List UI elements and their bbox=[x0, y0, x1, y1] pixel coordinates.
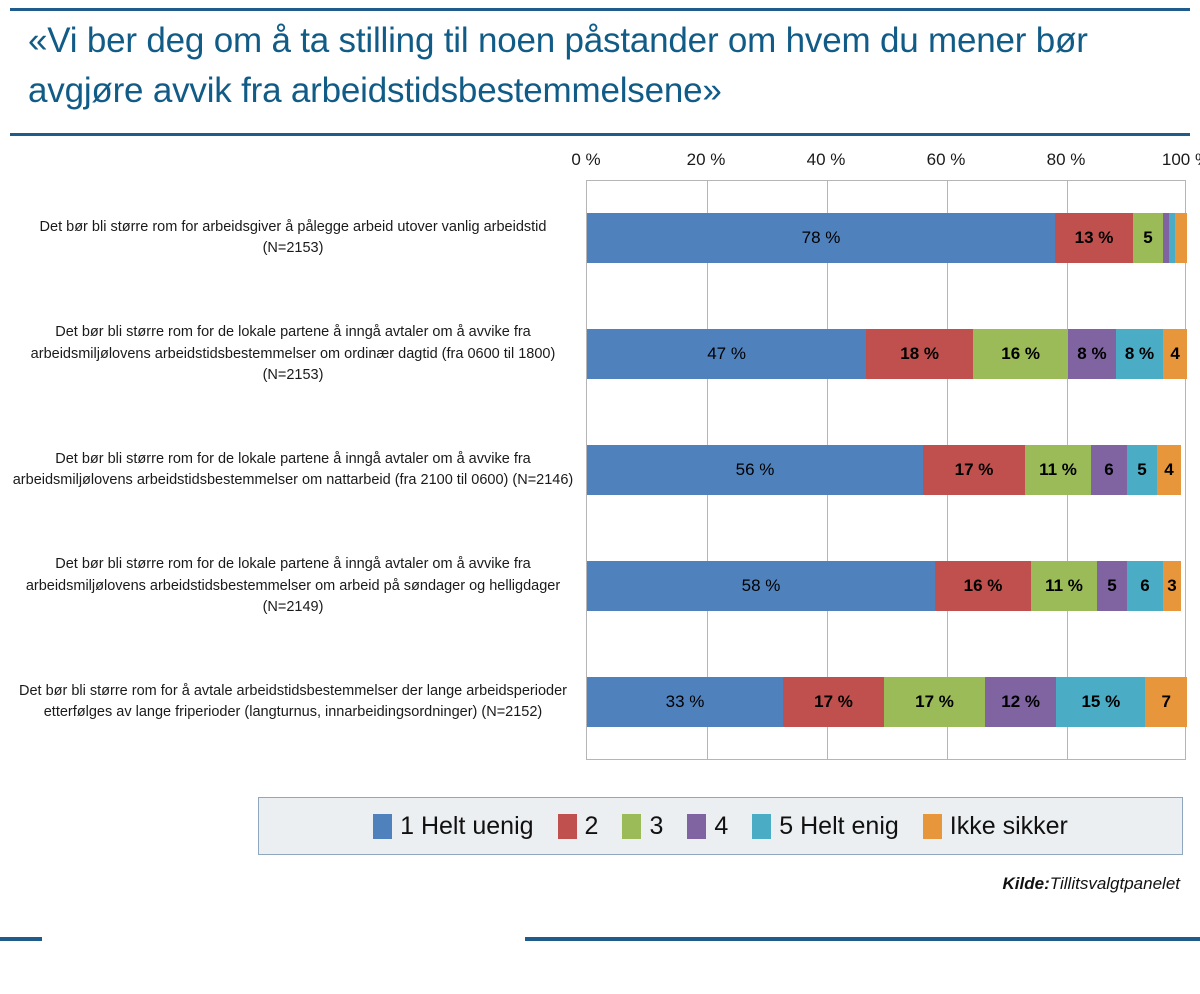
bar-segment: 56 % bbox=[587, 445, 923, 495]
bar-row: 33 %17 %17 %12 %15 %7 bbox=[587, 677, 1187, 727]
legend-label: 3 bbox=[649, 812, 663, 841]
x-tick-label: 60 % bbox=[927, 150, 966, 170]
title-bottom-rule bbox=[10, 133, 1190, 136]
legend-label: 5 Helt enig bbox=[779, 812, 899, 841]
source-note: Kilde:Tillitsvalgtpanelet bbox=[1003, 874, 1180, 894]
category-label: Det bør bli større rom for de lokale par… bbox=[8, 439, 578, 501]
legend-item[interactable]: 2 bbox=[558, 812, 599, 841]
bar-segment: 6 bbox=[1091, 445, 1127, 495]
bar-row: 78 %13 %5 bbox=[587, 213, 1187, 263]
source-label: Kilde: bbox=[1003, 874, 1050, 893]
legend-swatch-icon bbox=[923, 814, 942, 839]
legend-swatch-icon bbox=[373, 814, 392, 839]
bar-segment: 18 % bbox=[866, 329, 973, 379]
x-tick-label: 0 % bbox=[571, 150, 600, 170]
legend-label: 4 bbox=[714, 812, 728, 841]
bar-segment: 8 % bbox=[1068, 329, 1116, 379]
bar-segment: 4 bbox=[1157, 445, 1181, 495]
page-title: «Vi ber deg om å ta stilling til noen på… bbox=[28, 16, 1188, 115]
x-tick-label: 20 % bbox=[687, 150, 726, 170]
bar-segment: 17 % bbox=[783, 677, 884, 727]
bar-segment: 16 % bbox=[973, 329, 1068, 379]
bar-segment: 7 bbox=[1145, 677, 1187, 727]
stacked-bar-chart: 0 %20 %40 %60 %80 %100 % 78 %13 %547 %18… bbox=[0, 140, 1200, 785]
bar-segment: 47 % bbox=[587, 329, 866, 379]
bar-segment: 13 % bbox=[1055, 213, 1133, 263]
bar-segment: 4 bbox=[1163, 329, 1187, 379]
bar-segment: 17 % bbox=[923, 445, 1025, 495]
title-top-rule bbox=[10, 8, 1190, 11]
bar-segment: 12 % bbox=[985, 677, 1056, 727]
slide-root: «Vi ber deg om å ta stilling til noen på… bbox=[0, 0, 1200, 994]
legend-item[interactable]: 5 Helt enig bbox=[752, 812, 899, 841]
legend-item[interactable]: 1 Helt uenig bbox=[373, 812, 533, 841]
bar-segment: 11 % bbox=[1025, 445, 1091, 495]
bar-segment: 11 % bbox=[1031, 561, 1097, 611]
category-label: Det bør bli større rom for de lokale par… bbox=[8, 555, 578, 617]
bar-segment: 3 bbox=[1163, 561, 1181, 611]
bar-row: 47 %18 %16 %8 %8 %4 bbox=[587, 329, 1187, 379]
x-axis-tick-labels: 0 %20 %40 %60 %80 %100 % bbox=[0, 150, 1200, 174]
bar-segment: 58 % bbox=[587, 561, 935, 611]
footer-rule-right bbox=[525, 937, 1200, 941]
source-value: Tillitsvalgtpanelet bbox=[1050, 874, 1180, 893]
bar-segment: 5 bbox=[1127, 445, 1157, 495]
legend-label: 1 Helt uenig bbox=[400, 812, 533, 841]
bar-segment: 33 % bbox=[587, 677, 783, 727]
legend-label: 2 bbox=[585, 812, 599, 841]
bar-segment: 16 % bbox=[935, 561, 1031, 611]
bar-segment: 5 bbox=[1097, 561, 1127, 611]
category-label: Det bør bli større rom for de lokale par… bbox=[8, 323, 578, 385]
bar-segment bbox=[1175, 213, 1187, 263]
plot-area: 78 %13 %547 %18 %16 %8 %8 %456 %17 %11 %… bbox=[586, 180, 1186, 760]
x-tick-label: 100 % bbox=[1162, 150, 1200, 170]
bar-segment: 5 bbox=[1133, 213, 1163, 263]
footer: arbeidslivet.no bbox=[0, 905, 1200, 994]
legend-swatch-icon bbox=[558, 814, 577, 839]
bar-row: 58 %16 %11 %563 bbox=[587, 561, 1187, 611]
category-label: Det bør bli større rom for å avtale arbe… bbox=[8, 671, 578, 733]
legend-label: Ikke sikker bbox=[950, 812, 1068, 841]
bar-segment: 78 % bbox=[587, 213, 1055, 263]
legend-swatch-icon bbox=[752, 814, 771, 839]
plot-bottom-edge bbox=[587, 759, 1185, 760]
legend-swatch-icon bbox=[622, 814, 641, 839]
bar-segment: 17 % bbox=[884, 677, 985, 727]
bar-segment: 15 % bbox=[1056, 677, 1145, 727]
x-tick-label: 80 % bbox=[1047, 150, 1086, 170]
bar-row: 56 %17 %11 %654 bbox=[587, 445, 1187, 495]
plot-top-edge bbox=[587, 180, 1185, 181]
legend-item[interactable]: 4 bbox=[687, 812, 728, 841]
bar-segment: 6 bbox=[1127, 561, 1163, 611]
legend-item[interactable]: Ikke sikker bbox=[923, 812, 1068, 841]
legend-swatch-icon bbox=[687, 814, 706, 839]
legend-item[interactable]: 3 bbox=[622, 812, 663, 841]
x-tick-label: 40 % bbox=[807, 150, 846, 170]
chart-legend: 1 Helt uenig2345 Helt enigIkke sikker bbox=[258, 797, 1183, 855]
category-label: Det bør bli større rom for arbeidsgiver … bbox=[8, 207, 578, 269]
bar-segment: 8 % bbox=[1116, 329, 1164, 379]
footer-rule-left bbox=[0, 937, 42, 941]
